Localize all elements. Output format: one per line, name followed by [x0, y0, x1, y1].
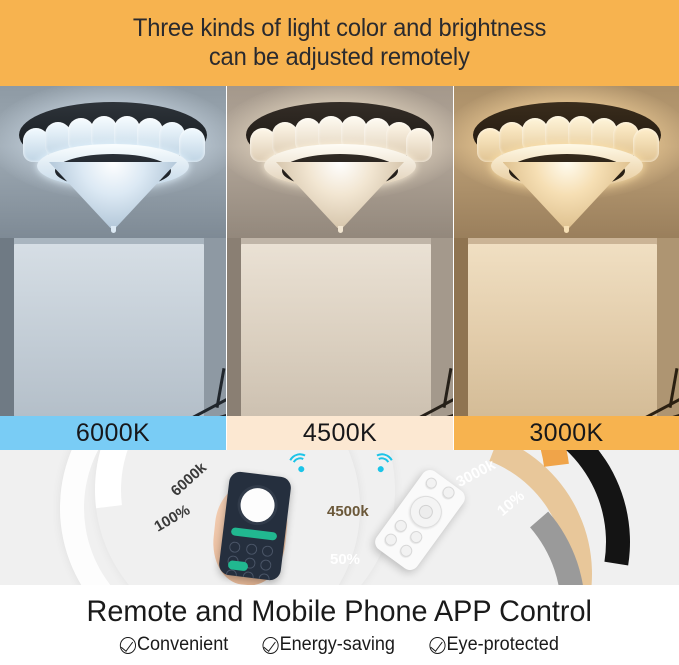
footer-section: Remote and Mobile Phone APP Control Conv…	[0, 585, 679, 665]
wall-4500k	[227, 238, 453, 416]
label-6000k-text: 6000K	[76, 419, 150, 448]
label-4500k: 4500K	[227, 416, 453, 450]
remote-button[interactable]	[440, 484, 457, 501]
remote-button[interactable]	[383, 531, 400, 548]
smartphone-app[interactable]	[218, 471, 292, 582]
feature-eye-protected: Eye-protected	[430, 634, 559, 656]
chandelier-4500k	[240, 100, 440, 240]
arc-label-50: 50%	[330, 551, 360, 568]
label-3000k-text: 3000K	[529, 419, 603, 448]
remote-button[interactable]	[424, 475, 439, 490]
photo-panel-3000k	[454, 86, 679, 416]
app-grid-button[interactable]	[229, 541, 241, 553]
remote-dpad[interactable]	[404, 490, 449, 535]
feature-energy-saving: Energy-saving	[262, 634, 394, 656]
color-temperature-labels: 6000K 4500K 3000K	[0, 416, 679, 450]
chandelier-3000k	[467, 100, 667, 240]
feature-convenient-label: Convenient	[137, 634, 228, 656]
scene-4500k	[227, 86, 453, 416]
wall-3000k	[454, 238, 679, 416]
feature-list: Convenient Energy-saving Eye-protected	[117, 634, 563, 656]
scene-6000k	[0, 86, 226, 416]
label-4500k-text: 4500K	[303, 419, 377, 448]
check-circle-icon	[262, 637, 278, 654]
remote-button[interactable]	[393, 518, 410, 535]
control-diagram: 6000k 100% 4500k 3000k 50% 10%	[0, 450, 679, 585]
remote-dpad-center[interactable]	[416, 502, 436, 522]
scene-3000k	[454, 86, 679, 416]
remote-button[interactable]	[398, 542, 415, 559]
app-grid-button[interactable]	[262, 545, 274, 557]
app-grid-button[interactable]	[260, 559, 272, 571]
chandelier-6000k	[13, 100, 213, 240]
check-circle-icon	[119, 637, 135, 654]
photo-panel-6000k	[0, 86, 226, 416]
color-temperature-photo-row	[0, 86, 679, 416]
wall-6000k	[0, 238, 226, 416]
feature-energy-saving-label: Energy-saving	[279, 634, 394, 656]
header-banner: Three kinds of light color and brightnes…	[0, 0, 679, 86]
photo-panel-4500k	[227, 86, 453, 416]
label-6000k: 6000K	[0, 416, 226, 450]
app-brightness-slider[interactable]	[231, 527, 278, 541]
feature-convenient: Convenient	[119, 634, 227, 656]
label-3000k: 3000K	[454, 416, 679, 450]
header-title-line-2: can be adjusted remotely	[209, 43, 470, 72]
app-grid-button[interactable]	[245, 543, 257, 555]
footer-title: Remote and Mobile Phone APP Control	[87, 594, 592, 630]
app-brightness-dial[interactable]	[239, 486, 277, 524]
feature-eye-protected-label: Eye-protected	[447, 634, 559, 656]
header-title-line-1: Three kinds of light color and brightnes…	[133, 14, 546, 43]
check-circle-icon	[430, 637, 446, 654]
remote-button[interactable]	[408, 529, 425, 546]
